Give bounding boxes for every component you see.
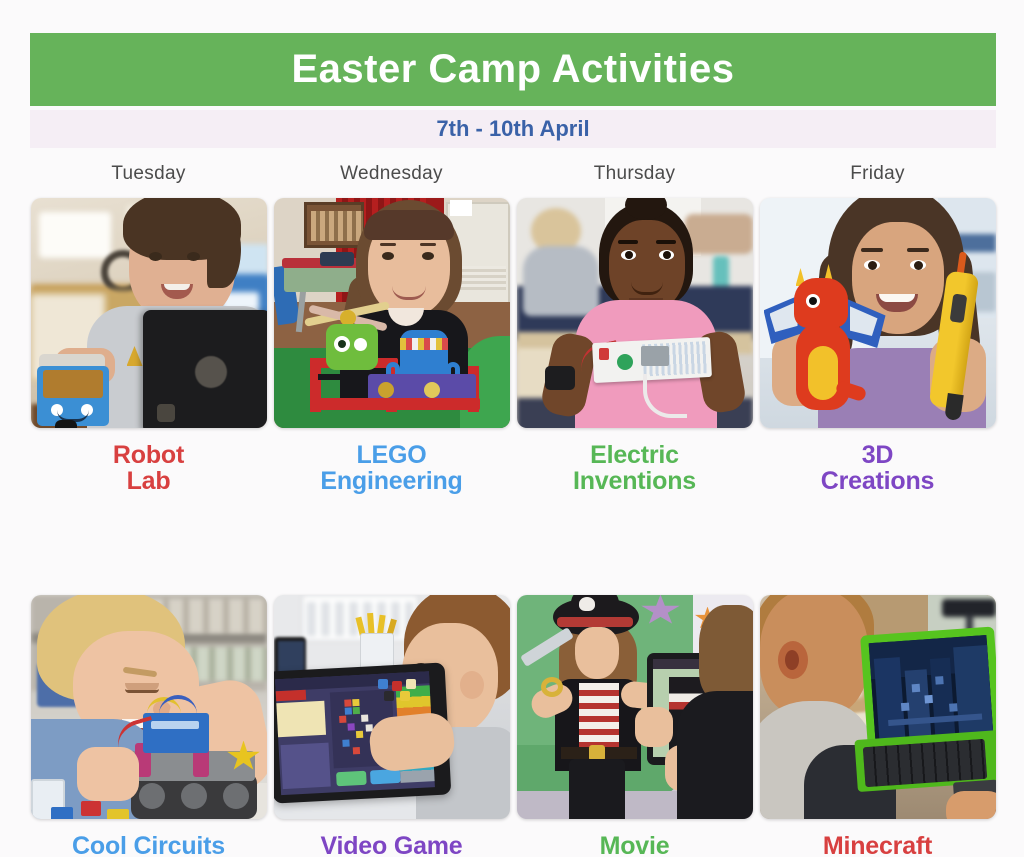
activity-card-cool-circuits[interactable]: Cool Circuits xyxy=(30,595,267,857)
day-label-tuesday: Tuesday xyxy=(30,163,267,185)
day-header-row: Tuesday Wednesday Thursday Friday xyxy=(30,163,996,185)
page-title: Easter Camp Activities xyxy=(291,47,734,92)
activity-caption-minecraft-redstone: Minecraft Redstone xyxy=(821,833,933,857)
activity-caption-electric-inventions: Electric Inventions xyxy=(573,442,696,495)
photo-pirate-greenscreen-filming xyxy=(517,595,753,819)
photo-boy-at-green-laptop-minecraft xyxy=(760,595,996,819)
activity-card-movie-making[interactable]: Movie Making xyxy=(516,595,753,857)
date-range-bar: 7th - 10th April xyxy=(30,110,996,148)
activity-card-robot-lab[interactable]: Robot Lab xyxy=(30,198,267,495)
activity-card-lego-engineering[interactable]: LEGO Engineering xyxy=(273,198,510,495)
photo-boy-building-circuit-tank xyxy=(31,595,267,819)
day-label-wednesday: Wednesday xyxy=(273,163,510,185)
activity-caption-3d-creations: 3D Creations xyxy=(821,442,935,495)
activity-card-electric-inventions[interactable]: Electric Inventions xyxy=(516,198,753,495)
activity-caption-robot-lab: Robot Lab xyxy=(113,442,184,495)
activity-grid: Robot Lab xyxy=(30,198,996,857)
photo-girl-with-lego-creations xyxy=(274,198,510,428)
activity-caption-video-game-design: Video Game Design xyxy=(320,833,462,857)
activity-card-3d-creations[interactable]: 3D Creations xyxy=(759,198,996,495)
photo-boy-with-tablet-and-blue-robot xyxy=(31,198,267,428)
photo-girl-holding-breadboard-circuit xyxy=(517,198,753,428)
title-banner: Easter Camp Activities xyxy=(30,33,996,106)
activity-caption-lego-engineering: LEGO Engineering xyxy=(320,442,462,495)
photo-boy-with-tablet-game-editor xyxy=(274,595,510,819)
activity-card-video-game-design[interactable]: Video Game Design xyxy=(273,595,510,857)
activity-caption-cool-circuits: Cool Circuits xyxy=(72,833,225,857)
photo-girl-with-3d-pen-dragon xyxy=(760,198,996,428)
day-label-friday: Friday xyxy=(759,163,996,185)
date-range: 7th - 10th April xyxy=(436,116,589,142)
day-label-thursday: Thursday xyxy=(516,163,753,185)
activity-caption-movie-making: Movie Making xyxy=(592,833,677,857)
easter-camp-poster: Easter Camp Activities 7th - 10th April … xyxy=(0,0,1024,857)
activity-card-minecraft-redstone[interactable]: Minecraft Redstone xyxy=(759,595,996,857)
